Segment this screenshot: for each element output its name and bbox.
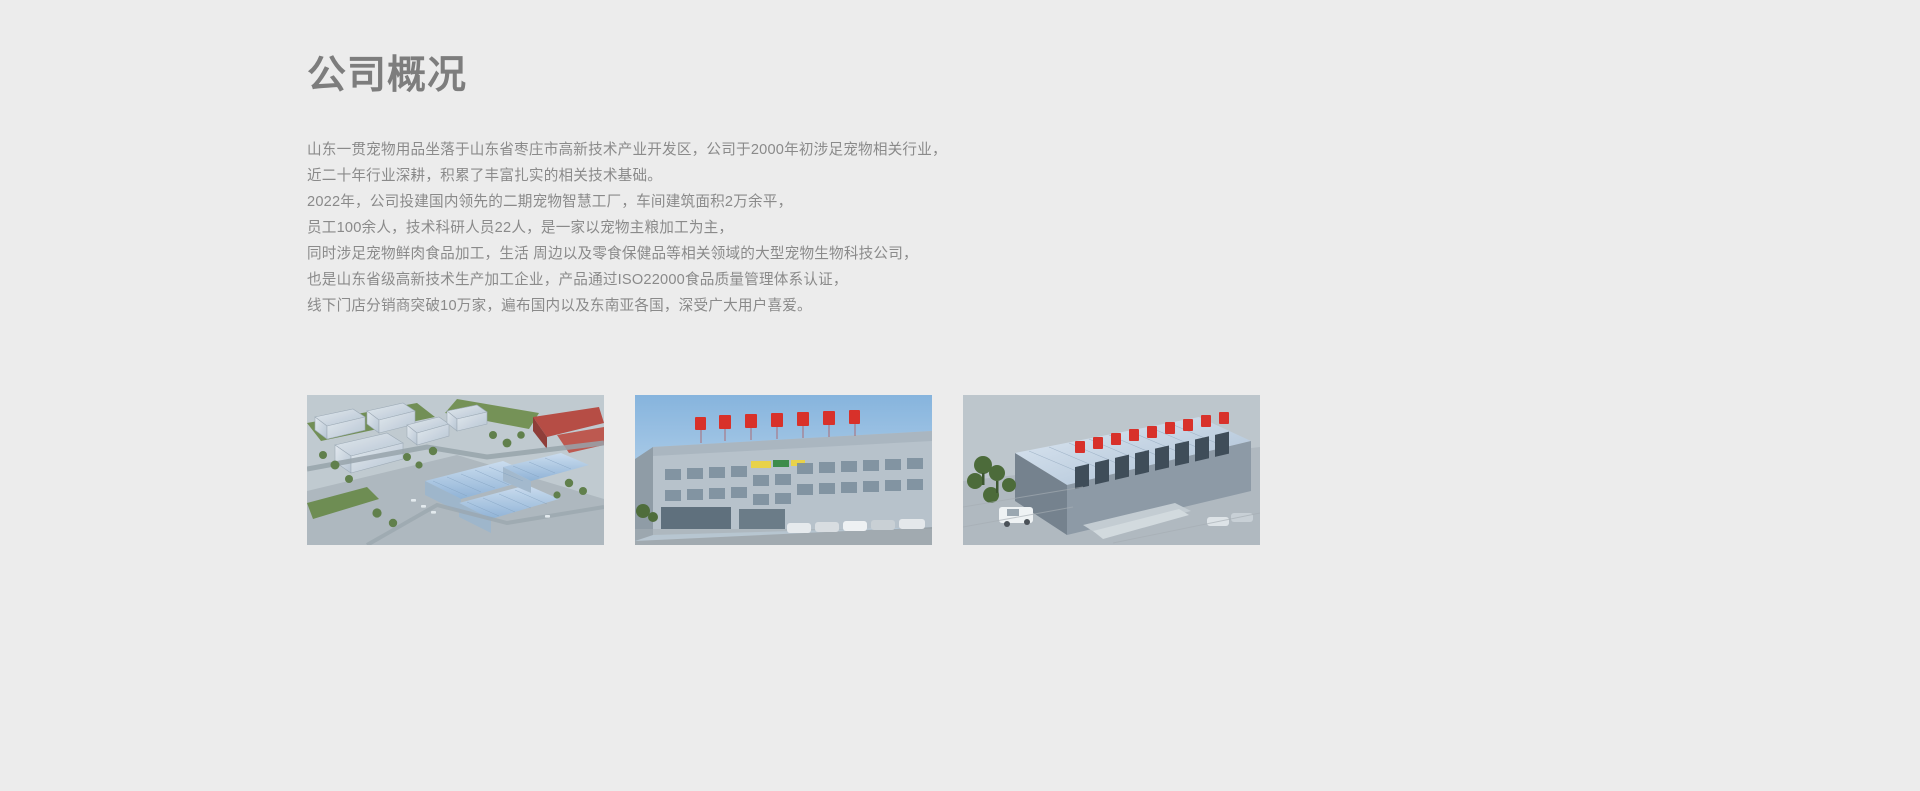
photo-gallery bbox=[307, 395, 1260, 545]
description-line-6: 也是山东省级高新技术生产加工企业，产品通过ISO22000食品质量管理体系认证， bbox=[307, 267, 1607, 293]
description-line-1: 山东一贯宠物用品坐落于山东省枣庄市高新技术产业开发区，公司于2000年初涉足宠物… bbox=[307, 137, 1607, 163]
company-description: 山东一贯宠物用品坐落于山东省枣庄市高新技术产业开发区，公司于2000年初涉足宠物… bbox=[307, 137, 1607, 320]
content-column: 公司概况 山东一贯宠物用品坐落于山东省枣庄市高新技术产业开发区，公司于2000年… bbox=[307, 0, 1607, 319]
page-title: 公司概况 bbox=[307, 52, 1607, 101]
description-line-3: 2022年，公司投建国内领先的二期宠物智慧工厂，车间建筑面积2万余平， bbox=[307, 189, 1607, 215]
industrial-park-entrance-photo[interactable] bbox=[963, 395, 1260, 545]
description-line-5: 同时涉足宠物鲜肉食品加工，生活 周边以及零食保健品等相关领域的大型宠物生物科技公… bbox=[307, 241, 1607, 267]
description-line-4: 员工100余人，技术科研人员22人，是一家以宠物主粮加工为主， bbox=[307, 215, 1607, 241]
aerial-factory-park-photo[interactable] bbox=[307, 395, 604, 545]
description-line-7: 线下门店分销商突破10万家，遍布国内以及东南亚各国，深受广大用户喜爱。 bbox=[307, 293, 1607, 319]
factory-building-facade-photo[interactable] bbox=[635, 395, 932, 545]
company-profile-page: 公司概况 山东一贯宠物用品坐落于山东省枣庄市高新技术产业开发区，公司于2000年… bbox=[0, 0, 1920, 791]
description-line-2: 近二十年行业深耕，积累了丰富扎实的相关技术基础。 bbox=[307, 163, 1607, 189]
